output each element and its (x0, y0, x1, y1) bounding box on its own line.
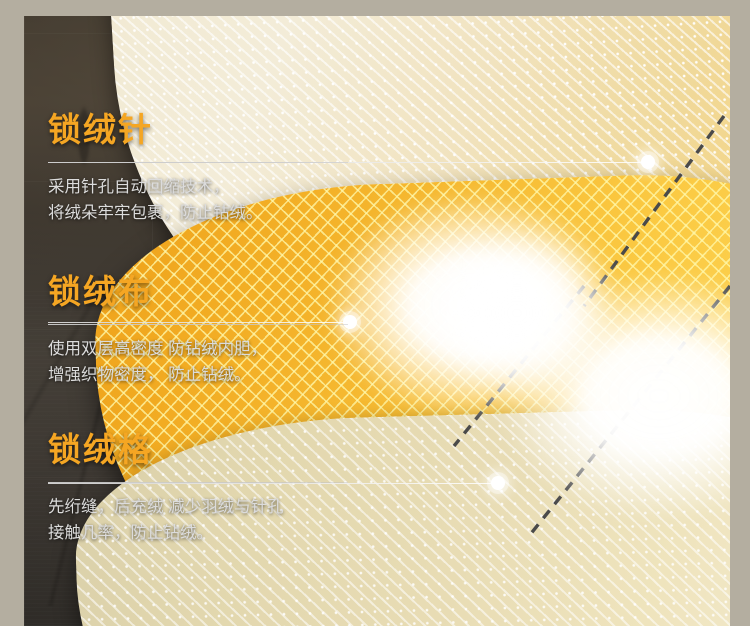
product-feature-panel: 锁绒针 采用针孔自动回缩技术， 将绒朵牢牢包裹，防止钻绒。 锁绒布 使用双层高密… (0, 0, 750, 626)
feature-block-3: 锁绒格 先绗缝，后充绒 减少羽绒与针孔 接触几率，防止钻绒。 (48, 432, 348, 546)
callout-node-3[interactable] (491, 476, 505, 490)
feature-divider-2 (48, 324, 348, 325)
feature-title-1: 锁绒针 (48, 112, 348, 148)
feature-divider-1 (48, 162, 348, 163)
feature-block-1: 锁绒针 采用针孔自动回缩技术， 将绒朵牢牢包裹，防止钻绒。 (48, 112, 348, 226)
feature-description-2: 使用双层高密度 防钻绒内胆， 增强织物密度， 防止钻绒。 (48, 337, 348, 388)
feature-description-1: 采用针孔自动回缩技术， 将绒朵牢牢包裹，防止钻绒。 (48, 175, 348, 226)
feature-title-3: 锁绒格 (48, 432, 348, 468)
feature-title-2: 锁绒布 (48, 274, 348, 310)
feature-divider-3 (48, 482, 348, 483)
feature-block-2: 锁绒布 使用双层高密度 防钻绒内胆， 增强织物密度， 防止钻绒。 (48, 274, 348, 388)
feature-description-3: 先绗缝，后充绒 减少羽绒与针孔 接触几率，防止钻绒。 (48, 495, 348, 546)
callout-node-1[interactable] (641, 155, 655, 169)
